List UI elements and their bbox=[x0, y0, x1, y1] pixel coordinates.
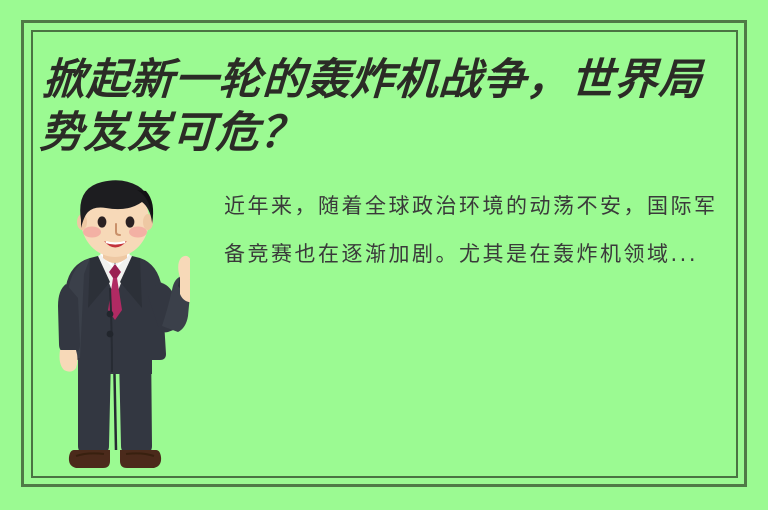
businessman-illustration bbox=[40, 178, 190, 478]
businessman-figure bbox=[40, 178, 190, 478]
left-hand bbox=[60, 350, 78, 372]
left-eye bbox=[98, 216, 107, 227]
left-blush bbox=[83, 227, 101, 238]
article-body-text: 近年来，随着全球政治环境的动荡不安，国际军备竞赛也在逐渐加剧。尤其是在轰炸机领域… bbox=[224, 182, 732, 278]
right-eye bbox=[126, 216, 135, 227]
jacket-button-top bbox=[107, 311, 114, 318]
article-title: 掀起新一轮的轰炸机战争，世界局势岌岌可危？ bbox=[38, 54, 738, 160]
article-card: 掀起新一轮的轰炸机战争，世界局势岌岌可危？ bbox=[0, 0, 768, 510]
right-blush bbox=[129, 227, 147, 238]
jacket-button-bottom bbox=[107, 331, 114, 338]
